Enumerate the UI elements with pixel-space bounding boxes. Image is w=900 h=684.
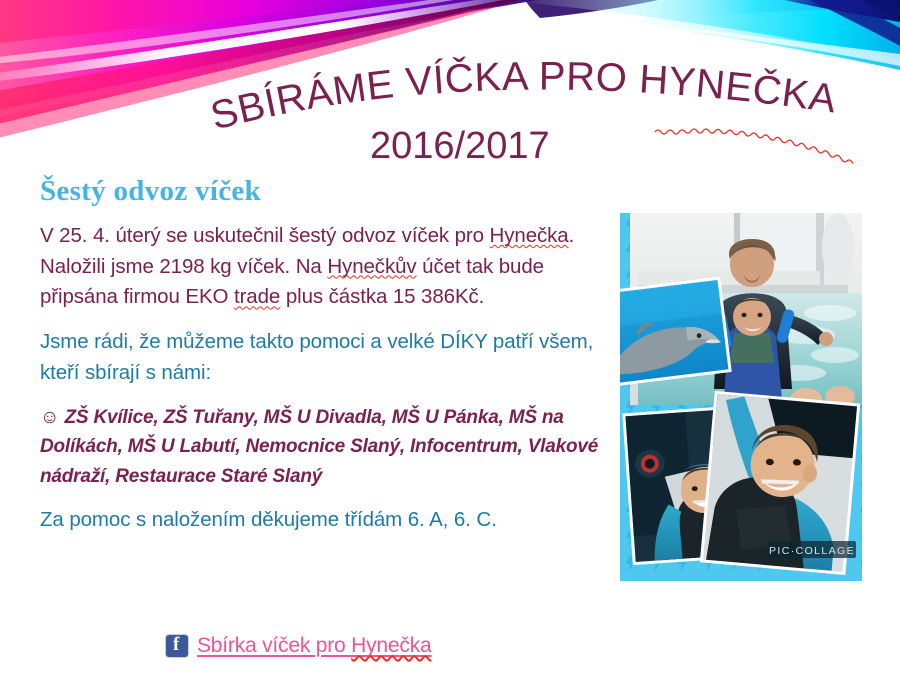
- facebook-link-misspelled-word: Hynečka: [351, 634, 431, 657]
- misspelled-word: Hynečkův: [327, 255, 416, 278]
- facebook-link-prefix: Sbírka víček pro: [197, 634, 351, 657]
- paragraph-class-thanks: Za pomoc s naložením děkujeme třídám 6. …: [40, 505, 605, 536]
- facebook-icon[interactable]: [166, 635, 188, 657]
- misspelled-word: Hynečka: [490, 224, 569, 247]
- facebook-link-row[interactable]: Sbírka víček pro Hynečka: [166, 634, 431, 658]
- paragraph-supporters: ☺ ZŠ Kvílice, ZŠ Tuřany, MŠ U Divadla, M…: [40, 403, 605, 491]
- facebook-link[interactable]: Sbírka víček pro Hynečka: [197, 634, 431, 658]
- banner-white-streak-thin: [0, 0, 512, 64]
- photo-collage: PIC·COLLAGE: [620, 213, 862, 581]
- photo-therapist-and-child: [620, 213, 862, 410]
- presentation-title: SBÍRÁME VÍČKA PRO HYNEČKA 2016/2017: [0, 62, 900, 157]
- banner-band-navy: [742, 0, 900, 22]
- title-line-2: 2016/2017: [370, 125, 550, 167]
- text-segment: V 25. 4. úterý se uskutečnil šestý odvoz…: [40, 224, 490, 247]
- banner-band-navy-stripe: [792, 0, 900, 46]
- misspelled-word: trade: [234, 285, 280, 308]
- supporters-list: ZŠ Kvílice, ZŠ Tuřany, MŠ U Divadla, MŠ …: [40, 407, 598, 487]
- section-heading: Šestý odvoz víček: [40, 176, 605, 208]
- banner-band-deep-purple: [520, 0, 700, 18]
- collage-watermark: PIC·COLLAGE: [768, 541, 856, 558]
- smiley-icon: ☺: [40, 407, 59, 428]
- photo-dolphin: [620, 277, 732, 387]
- slide-body: Šestý odvoz víček V 25. 4. úterý se usku…: [40, 176, 605, 550]
- banner-band-navy-dark: [842, 0, 900, 18]
- text-segment: plus částka 15 386Kč.: [280, 285, 484, 308]
- slide-canvas: SBÍRÁME VÍČKA PRO HYNEČKA 2016/2017 Šest…: [0, 0, 900, 684]
- banner-band-cyan-main: [520, 0, 900, 60]
- paragraph-delivery-info: V 25. 4. úterý se uskutečnil šestý odvoz…: [40, 221, 605, 313]
- collage-watermark-text: PIC·COLLAGE: [769, 545, 855, 557]
- title-spellcheck-squiggle: [655, 129, 853, 163]
- paragraph-thanks: Jsme rádi, že můžeme takto pomoci a velk…: [40, 327, 605, 389]
